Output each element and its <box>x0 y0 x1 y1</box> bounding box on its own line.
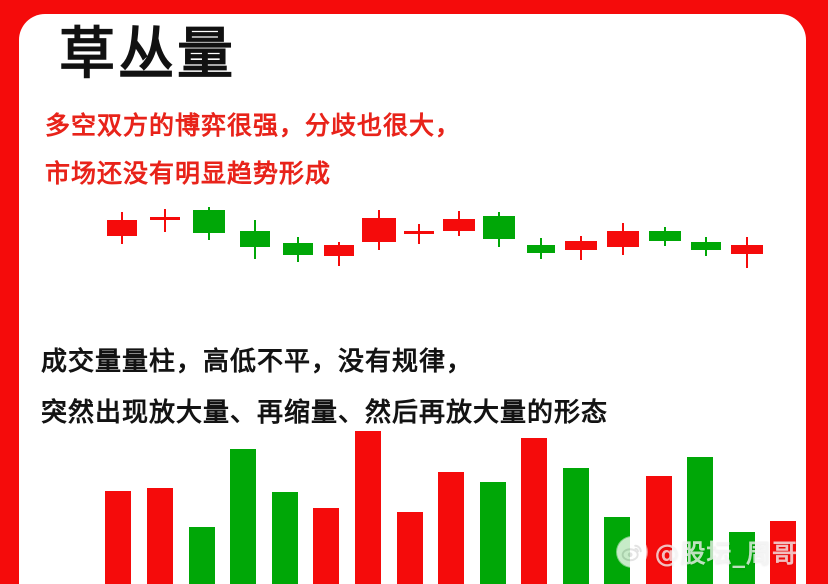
volume-bar <box>230 449 256 584</box>
candlestick <box>649 190 681 286</box>
candlestick <box>107 190 137 286</box>
candle-body <box>240 231 270 247</box>
poster-root: 草丛量 多空双方的博弈很强，分歧也很大， 市场还没有明显趋势形成 成交量量柱，高… <box>0 0 828 584</box>
candlestick <box>324 190 354 286</box>
candle-wick <box>164 209 166 232</box>
red-note-line-1: 多空双方的博弈很强，分歧也很大， <box>45 106 461 142</box>
volume-bar <box>272 492 298 584</box>
candle-body <box>607 231 639 247</box>
volume-bar <box>189 527 215 584</box>
candle-body <box>324 245 354 256</box>
page-title: 草丛量 <box>59 26 236 82</box>
candle-body <box>649 231 681 241</box>
black-note-line-1: 成交量量柱，高低不平，没有规律， <box>41 341 473 378</box>
candle-body <box>404 231 434 234</box>
candlestick <box>362 190 396 286</box>
candlestick-chart <box>19 190 806 286</box>
candlestick <box>443 190 475 286</box>
candle-body <box>107 220 137 236</box>
candlestick <box>240 190 270 286</box>
candlestick <box>527 190 555 286</box>
volume-bar-chart <box>19 424 806 584</box>
volume-bar <box>105 491 131 584</box>
volume-bar <box>729 532 755 584</box>
candle-body <box>150 217 180 220</box>
candlestick <box>193 190 225 286</box>
volume-bar <box>147 488 173 584</box>
volume-bar <box>646 476 672 584</box>
candlestick <box>691 190 721 286</box>
volume-bar <box>604 517 630 584</box>
candle-body <box>565 241 597 250</box>
volume-bar <box>438 472 464 584</box>
volume-bar <box>397 512 423 584</box>
candlestick <box>283 190 313 286</box>
volume-bar <box>521 438 547 584</box>
poster-page: 草丛量 多空双方的博弈很强，分歧也很大， 市场还没有明显趋势形成 成交量量柱，高… <box>19 14 806 584</box>
volume-bar <box>563 468 589 584</box>
candle-body <box>283 243 313 255</box>
candlestick <box>731 190 763 286</box>
candle-body <box>362 218 396 242</box>
candlestick <box>565 190 597 286</box>
candle-body <box>731 245 763 254</box>
candlestick <box>607 190 639 286</box>
candle-body <box>443 219 475 231</box>
volume-bar <box>480 482 506 584</box>
volume-bar <box>687 457 713 584</box>
candle-body <box>527 245 555 253</box>
candlestick <box>404 190 434 286</box>
candle-wick <box>418 224 420 244</box>
candle-body <box>483 216 515 239</box>
volume-bar <box>770 521 796 584</box>
volume-bar <box>355 431 381 584</box>
red-note-line-2: 市场还没有明显趋势形成 <box>45 154 331 190</box>
candlestick <box>483 190 515 286</box>
volume-bar <box>313 508 339 584</box>
candle-body <box>691 242 721 250</box>
candlestick <box>150 190 180 286</box>
candle-body <box>193 210 225 233</box>
